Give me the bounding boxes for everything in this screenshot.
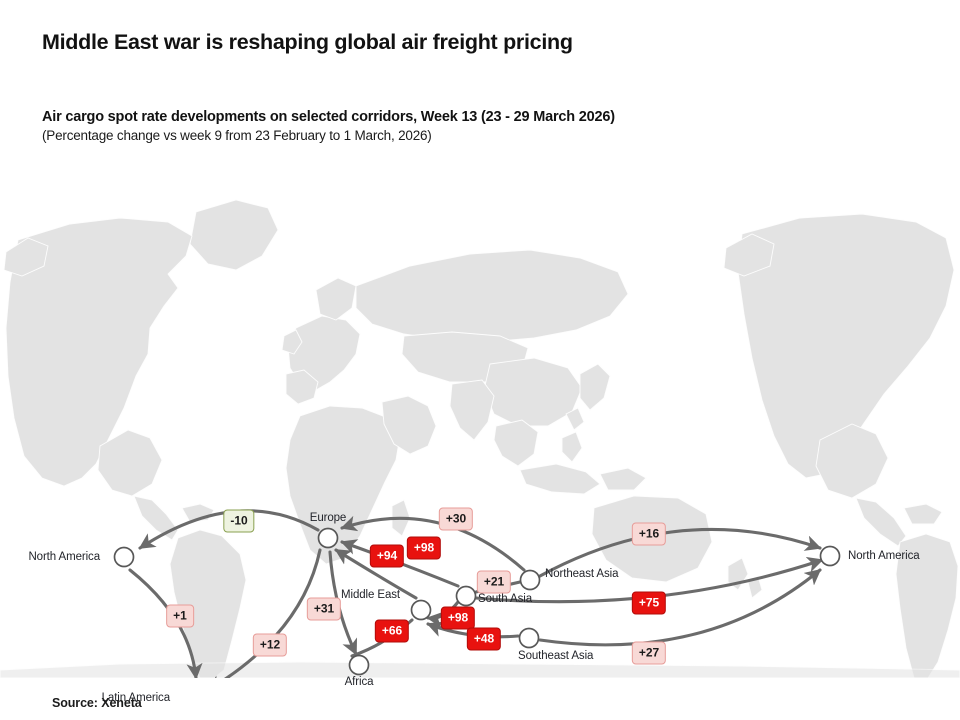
node-label-africa: Africa: [319, 676, 399, 690]
flow-europe-to-latin-america: [208, 550, 320, 678]
infographic-root: Middle East war is reshaping global air …: [0, 0, 960, 720]
flow-badge-southeast-asia-north-america[interactable]: +27: [632, 642, 666, 665]
flow-badge-south-asia-north-america[interactable]: +75: [632, 592, 666, 615]
node-southeast-asia: [520, 629, 539, 648]
flow-badge-northeast-asia-europe[interactable]: +30: [439, 508, 473, 531]
flow-badge-europe-latin-america[interactable]: +12: [253, 634, 287, 657]
flow-badge-south-asia-europe[interactable]: +98: [407, 537, 441, 560]
flow-badge-south-asia-northeast-asia[interactable]: +21: [477, 571, 511, 594]
node-europe: [319, 529, 338, 548]
flow-northeast-asia-to-north-america: [540, 529, 820, 576]
flow-badge-middle-east-africa[interactable]: +66: [375, 620, 409, 643]
node-africa: [350, 656, 369, 675]
flow-badge-europe-north-america[interactable]: -10: [223, 510, 254, 533]
flow-badge-south-asia-middle-east[interactable]: +98: [441, 607, 475, 630]
flow-badge-europe-africa[interactable]: +31: [307, 598, 341, 621]
flow-badge-middle-east-europe[interactable]: +94: [370, 545, 404, 568]
source-attribution: Source: Xeneta: [52, 696, 142, 710]
world-map-flow-chart: North America Latin America Europe Afric…: [0, 178, 960, 678]
flow-badge-north-america-latin-america[interactable]: +1: [166, 605, 194, 628]
node-circles: [115, 529, 840, 679]
node-north-america-west: [115, 548, 134, 567]
flow-badge-southeast-asia-middle-east[interactable]: +48: [467, 628, 501, 651]
node-south-asia: [457, 587, 476, 606]
node-middle-east: [412, 601, 431, 620]
node-northeast-asia: [521, 571, 540, 590]
flow-southeast-asia-to-north-america: [540, 570, 820, 645]
page-title: Middle East war is reshaping global air …: [42, 30, 902, 56]
flow-arrows-layer: [0, 178, 960, 678]
flow-badge-northeast-asia-north-america[interactable]: +16: [632, 523, 666, 546]
node-north-america-east: [821, 547, 840, 566]
chart-subtitle-note: (Percentage change vs week 9 from 23 Feb…: [42, 128, 922, 145]
chart-subtitle: Air cargo spot rate developments on sele…: [42, 108, 922, 126]
